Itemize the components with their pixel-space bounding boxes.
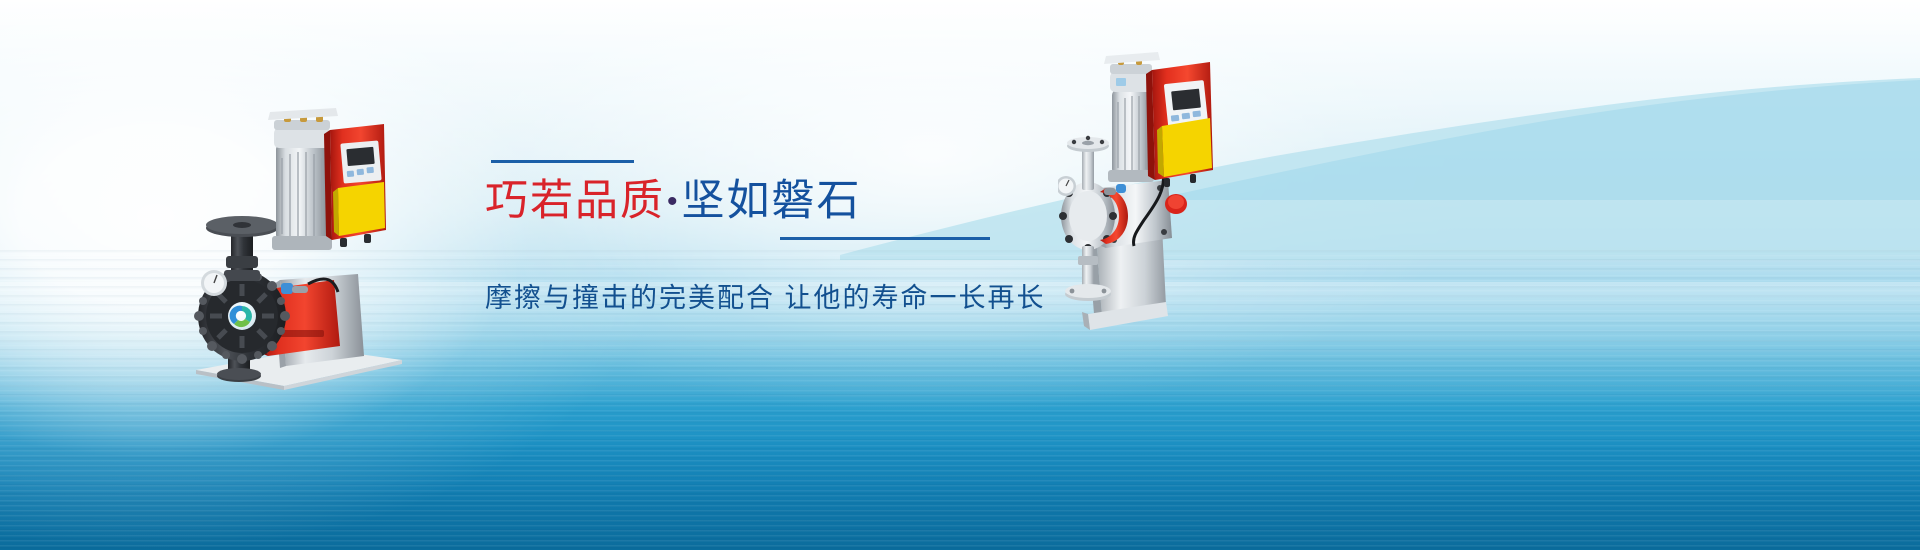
headline-part-red: 巧若品质 bbox=[485, 177, 665, 225]
yellow-terminal-box bbox=[1157, 118, 1212, 177]
mountain-ridge-near bbox=[1160, 0, 1920, 200]
page-subtitle: 摩擦与撞击的完美配合 让他的寿命一长再长 bbox=[485, 276, 1045, 315]
decorative-rule-bottom bbox=[780, 237, 990, 240]
headline-part-blue: 坚如磐石 bbox=[682, 177, 862, 225]
machine-metering-pump-left bbox=[188, 84, 408, 394]
product-hero-banner: 巧若品质•坚如磐石 摩擦与撞击的完美配合 让他的寿命一长再长 bbox=[0, 0, 1920, 550]
pressure-gauge bbox=[201, 270, 227, 296]
machine-metering-pump-right bbox=[1058, 38, 1273, 346]
red-adjust-knob bbox=[1165, 194, 1187, 214]
control-display bbox=[340, 140, 381, 183]
headline-separator-dot: • bbox=[665, 185, 682, 218]
yellow-terminal-box bbox=[333, 182, 385, 236]
hero-text-block: 巧若品质•坚如磐石 摩擦与撞击的完美配合 让他的寿命一长再长 bbox=[485, 160, 1045, 315]
head-logo-badge bbox=[228, 302, 256, 330]
decorative-rule-top bbox=[491, 160, 634, 163]
page-headline: 巧若品质•坚如磐石 bbox=[485, 177, 1045, 225]
